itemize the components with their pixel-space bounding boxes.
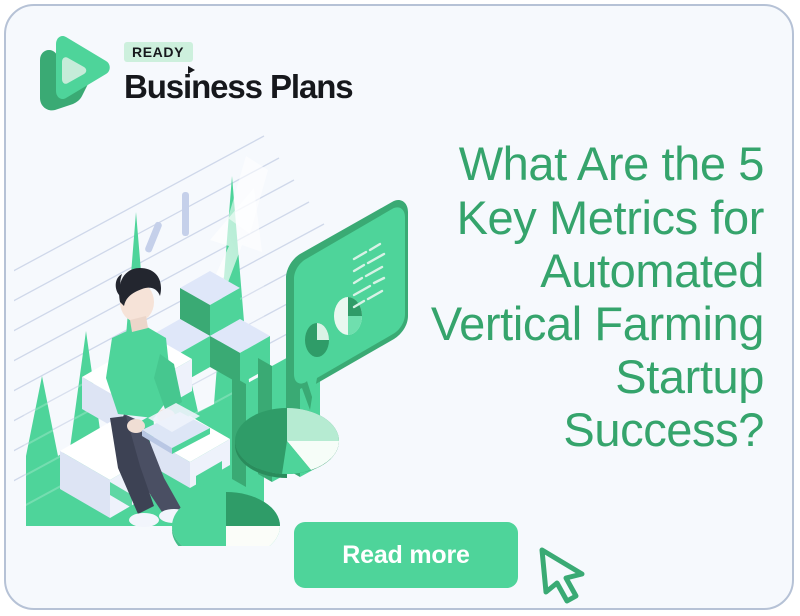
brand-wordmark: Business Plans [124,69,353,105]
brand-text-block: READY Business Plans [124,42,353,105]
play-triangle-logo-icon [32,30,112,112]
ready-badge: READY [124,42,193,62]
mouse-pointer-arrow-icon [536,544,592,606]
headline-line-1: What Are the 5 [368,137,764,190]
headline-line-4: Vertical Farming [368,297,764,350]
triangle-accent-icon [188,66,195,74]
brand-wordmark-text: Business Plans [124,68,353,105]
headline-line-5: Startup [368,350,764,403]
headline-line-3: Automated [368,244,764,297]
pie-chart-large [235,408,339,478]
tick-marks [144,192,189,253]
headline-line-2: Key Metrics for [368,191,764,244]
promo-banner-card: READY Business Plans [4,4,794,610]
headline-line-6: Success? [368,403,764,456]
page-title: What Are the 5 Key Metrics for Automated… [368,137,764,456]
read-more-button[interactable]: Read more [294,522,518,588]
brand-logo-lockup[interactable]: READY Business Plans [32,28,332,112]
